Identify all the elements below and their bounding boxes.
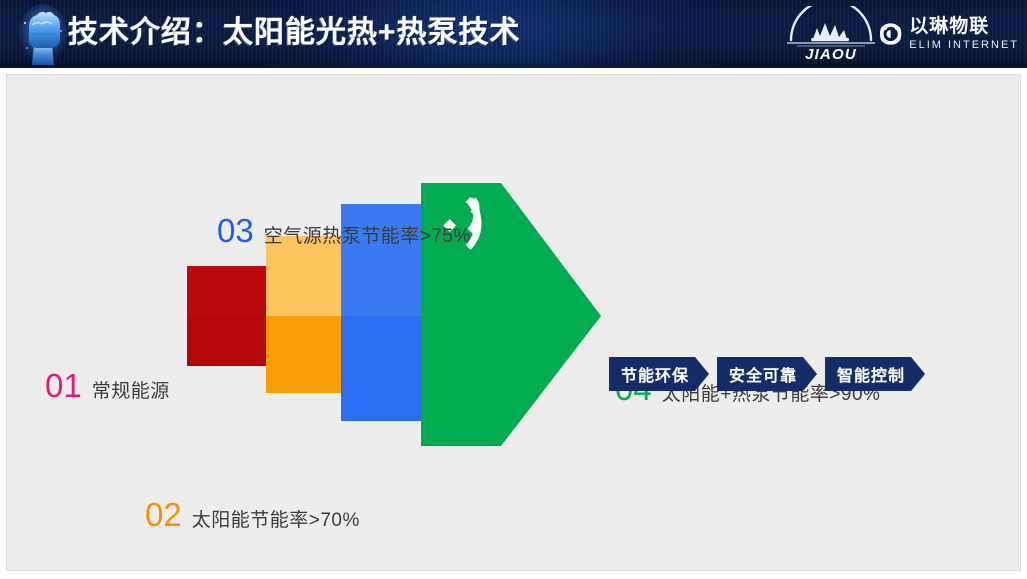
feature-badges: 节能环保 安全可靠 智能控制 xyxy=(609,357,925,391)
slide-body: 01 常规能源 02 太阳能节能率>70% 03 空气源热泵节能率>75% 04… xyxy=(6,74,1021,571)
badge-energy-saving[interactable]: 节能环保 xyxy=(609,357,709,391)
step-label-02: 02 太阳能节能率>70% xyxy=(145,496,360,534)
slide: 技术介绍：太阳能光热+热泵技术 JIAOU xyxy=(0,0,1027,579)
step-text-02: 太阳能节能率>70% xyxy=(192,505,360,532)
step-number-03: 03 xyxy=(217,212,254,250)
step-label-03: 03 空气源热泵节能率>75% xyxy=(217,212,471,250)
step-number-01: 01 xyxy=(45,367,82,405)
elim-name-en: ELIM INTERNET xyxy=(909,40,1019,51)
sunrise-mark-icon xyxy=(811,23,849,41)
badge-smart-control[interactable]: 智能控制 xyxy=(825,357,925,391)
page-title: 技术介绍：太阳能光热+热泵技术 xyxy=(68,9,521,57)
slide-header: 技术介绍：太阳能光热+热泵技术 JIAOU xyxy=(0,0,1027,68)
logo-jiaou: JIAOU xyxy=(783,6,879,62)
logo-elim: 以琳物联 ELIM INTERNET xyxy=(879,8,1019,60)
badge-safe-reliable[interactable]: 安全可靠 xyxy=(717,357,817,391)
step-text-03: 空气源热泵节能率>75% xyxy=(264,221,471,248)
step-text-01: 常规能源 xyxy=(92,376,170,403)
step-number-02: 02 xyxy=(145,496,182,534)
elim-name-cn: 以琳物联 xyxy=(909,17,1019,36)
elim-wordmark: 以琳物联 ELIM INTERNET xyxy=(909,17,1019,51)
step-label-01: 01 常规能源 xyxy=(45,367,170,405)
letter-g-icon xyxy=(879,12,902,56)
svg-text:JIAOU: JIAOU xyxy=(805,46,857,62)
raised-fist-icon xyxy=(14,1,72,67)
